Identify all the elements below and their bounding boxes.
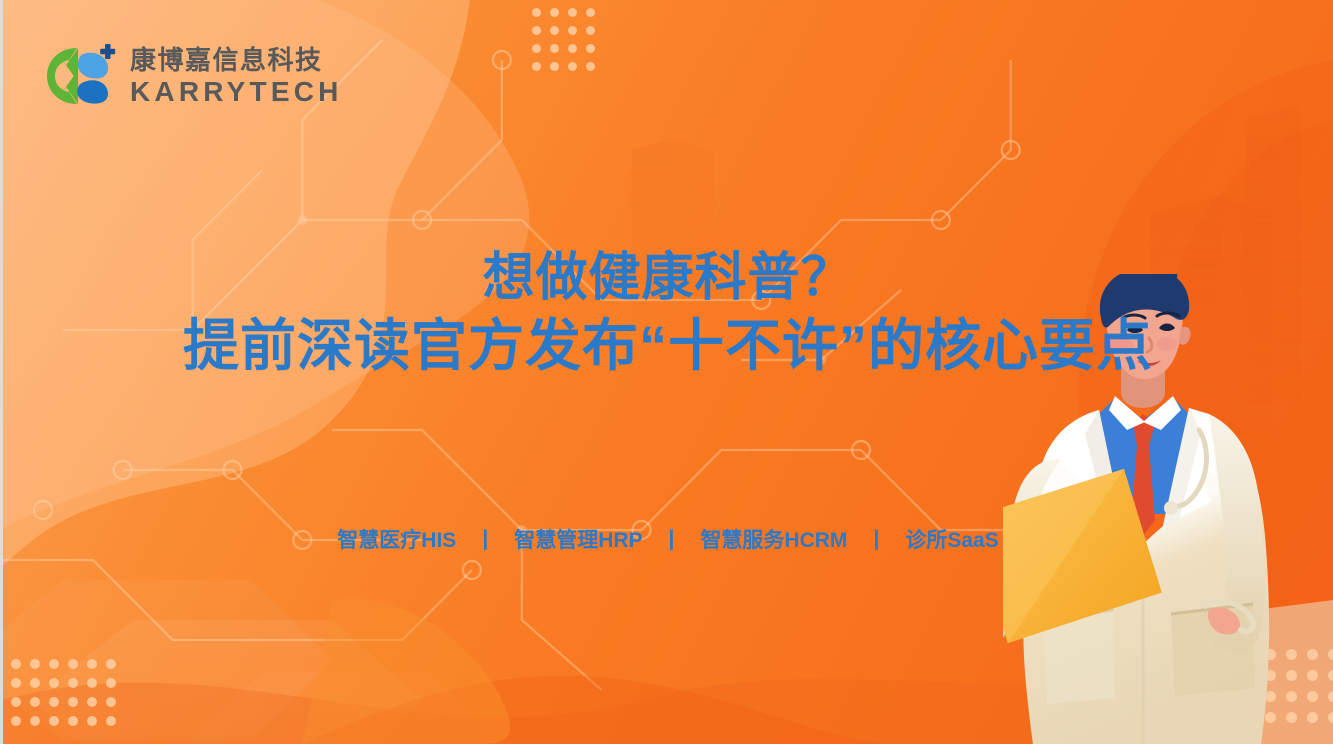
service-item-his[interactable]: 智慧医疗HIS [337,524,456,554]
service-list: 智慧医疗HIS | 智慧管理HRP | 智慧服务HCRM | 诊所SaaS [3,524,1333,554]
dot-grid-top [532,8,594,70]
service-item-hrp[interactable]: 智慧管理HRP [514,524,642,554]
karrytech-logo-mark [45,44,119,108]
service-item-hcrm[interactable]: 智慧服务HCRM [700,524,847,554]
service-separator-3: | [873,527,879,551]
service-item-saas[interactable]: 诊所SaaS [905,524,998,554]
promo-banner: 康博嘉信息科技 KARRYTECH [0,0,1333,744]
service-separator-2: | [669,527,675,551]
logo-wordmark: 康博嘉信息科技 KARRYTECH [130,47,343,106]
background-decorations [3,0,1333,744]
logo-chinese-name: 康博嘉信息科技 [130,47,343,73]
logo-english-name: KARRYTECH [130,78,343,106]
dot-grid-bottom-right [1265,649,1333,729]
service-separator-1: | [482,527,488,551]
brand-logo[interactable]: 康博嘉信息科技 KARRYTECH [45,44,343,108]
dot-grid-bottom-left [11,659,111,725]
